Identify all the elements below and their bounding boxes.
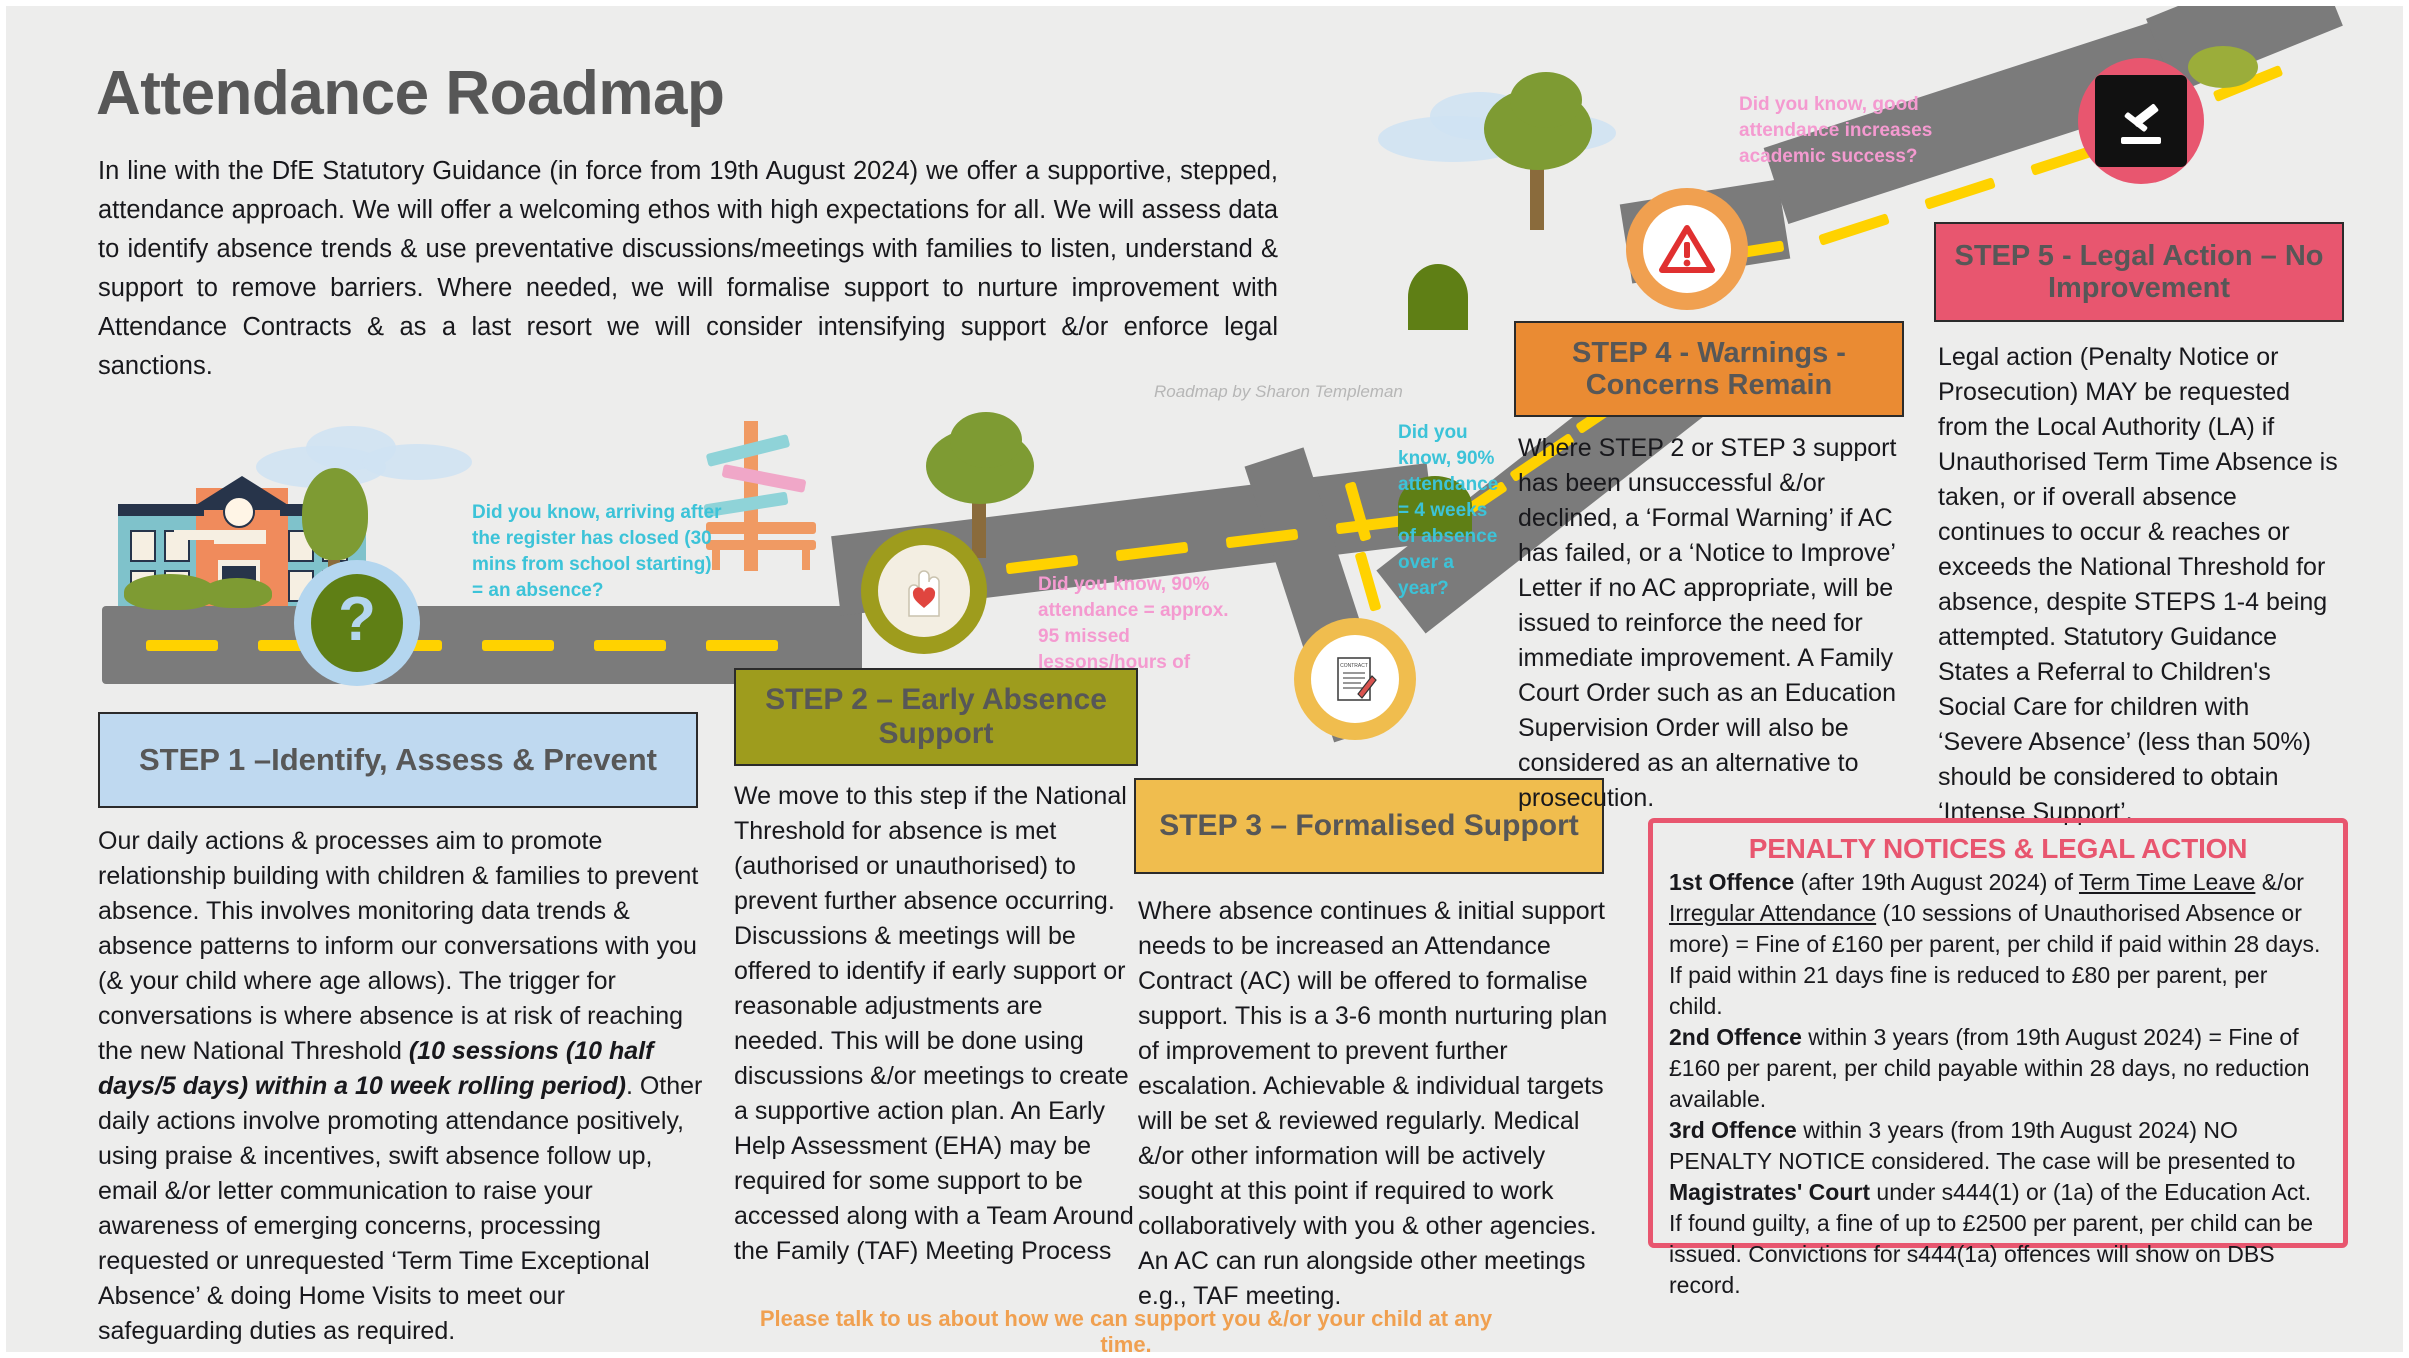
milestone-badge-step4: [1626, 188, 1748, 310]
signpost-icon: [722, 464, 807, 493]
footer-message: Please talk to us about how we can suppo…: [746, 1306, 1506, 1358]
step-5-body: Legal action (Penalty Notice or Prosecut…: [1938, 340, 2338, 830]
step-4-heading: STEP 4 - Warnings - Concerns Remain: [1514, 321, 1904, 417]
step-1-body-post: . Other daily actions involve promoting …: [98, 1072, 702, 1345]
penalty-offence-2-label: 2nd Offence: [1669, 1024, 1802, 1050]
callout-academic-success: Did you know, good attendance increases …: [1739, 92, 2009, 170]
intro-paragraph: In line with the DfE Statutory Guidance …: [98, 152, 1278, 386]
warning-triangle-icon: [1643, 205, 1731, 293]
contract-document-icon: CONTRACT: [1311, 635, 1399, 723]
penalty-offence-3: 3rd Offence within 3 years (from 19th Au…: [1669, 1115, 2327, 1301]
gavel-icon: [2095, 75, 2187, 167]
bench-icon: [706, 540, 816, 550]
page-title: Attendance Roadmap: [96, 58, 724, 129]
bench-icon: [802, 548, 810, 570]
bush-icon: [202, 578, 272, 608]
bush-icon: [2188, 46, 2258, 88]
grass-icon: [1408, 264, 1468, 330]
cloud-icon: [362, 444, 472, 480]
penalty-offence-3-label: 3rd Offence: [1669, 1117, 1797, 1143]
milestone-badge-step5: [2078, 58, 2204, 184]
penalty-notices-panel: PENALTY NOTICES & LEGAL ACTION 1st Offen…: [1648, 818, 2348, 1248]
milestone-badge-step2: [861, 528, 987, 654]
penalty-offence-2: 2nd Offence within 3 years (from 19th Au…: [1669, 1022, 2327, 1115]
penalty-offence-3-magistrates-court: Magistrates' Court: [1669, 1179, 1870, 1205]
road-dash: [594, 640, 666, 651]
step-2-heading: STEP 2 – Early Absence Support: [734, 668, 1138, 766]
caring-hand-heart-icon: [878, 545, 970, 637]
watermark-credit: Roadmap by Sharon Templeman: [1154, 382, 1403, 402]
tree-icon: [950, 412, 1022, 468]
bench-icon: [706, 522, 816, 534]
step-4-body: Where STEP 2 or STEP 3 support has been …: [1518, 431, 1908, 816]
step-1-heading: STEP 1 –Identify, Assess & Prevent: [98, 712, 698, 808]
step-1-body: Our daily actions & processes aim to pro…: [98, 824, 714, 1349]
milestone-badge-step3: CONTRACT: [1294, 618, 1416, 740]
tree-icon: [302, 468, 368, 560]
penalty-panel-title: PENALTY NOTICES & LEGAL ACTION: [1669, 833, 2327, 865]
milestone-badge-step1: ?: [294, 560, 420, 686]
penalty-offence-1-label: 1st Offence: [1669, 869, 1794, 895]
road-dash: [706, 640, 778, 651]
tree-icon: [1510, 72, 1582, 128]
question-mark-icon: ?: [311, 574, 403, 672]
penalty-offence-1-lead: (after 19th August 2024) of: [1794, 869, 2079, 895]
svg-text:CONTRACT: CONTRACT: [1340, 663, 1368, 669]
road-dash: [1924, 177, 1996, 210]
penalty-offence-1: 1st Offence (after 19th August 2024) of …: [1669, 867, 2327, 1022]
road-dash: [482, 640, 554, 651]
callout-register-closed: Did you know, arriving after the registe…: [472, 500, 722, 604]
attendance-roadmap-infographic: ? CONTRACT: [0, 0, 2409, 1358]
step-5-heading: STEP 5 - Legal Action – No Improvement: [1934, 222, 2344, 322]
callout-four-weeks: Did you know, 90% attendance = 4 weeks o…: [1398, 420, 1508, 602]
road-dash: [146, 640, 218, 651]
penalty-offence-1-term-time-leave: Term Time Leave: [2079, 869, 2255, 895]
road-dash: [1818, 213, 1890, 246]
step-3-body: Where absence continues & initial suppor…: [1138, 894, 1612, 1314]
step-2-body: We move to this step if the National Thr…: [734, 779, 1138, 1269]
step-1-body-pre: Our daily actions & processes aim to pro…: [98, 827, 698, 1065]
road-dash: [1354, 551, 1381, 612]
penalty-offence-1-mid: &/or: [2255, 869, 2304, 895]
penalty-offence-1-irregular-attendance: Irregular Attendance: [1669, 900, 1876, 926]
